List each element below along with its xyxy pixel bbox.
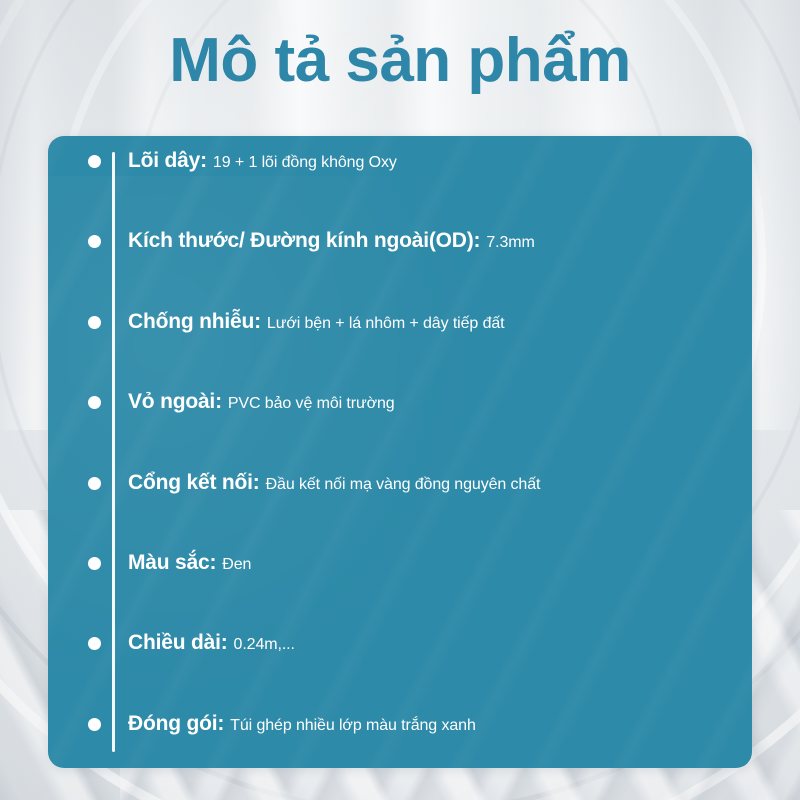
dot-icon xyxy=(88,477,101,490)
spec-label: Chống nhiễu: xyxy=(128,310,261,334)
spec-value: PVC bảo vệ môi trường xyxy=(228,395,395,413)
spec-value: 0.24m,... xyxy=(234,636,295,654)
spec-row-text: Đóng gói:Túi ghép nhiều lớp màu trắng xa… xyxy=(128,712,476,738)
spec-row-text: Lõi dây:19 + 1 lõi đồng không Oxy xyxy=(128,149,397,175)
spec-value: 7.3mm xyxy=(486,234,534,252)
spec-value: Đầu kết nối mạ vàng đồng nguyên chất xyxy=(266,476,541,494)
dot-icon xyxy=(88,557,101,570)
spec-label: Cổng kết nối: xyxy=(128,471,260,495)
spec-row-text: Cổng kết nối:Đầu kết nối mạ vàng đồng ng… xyxy=(128,471,540,497)
spec-row-text: Kích thước/ Đường kính ngoài(OD):7.3mm xyxy=(128,229,535,255)
spec-label: Kích thước/ Đường kính ngoài(OD): xyxy=(128,229,480,253)
dot-icon xyxy=(88,718,101,731)
specification-card: Lõi dây:19 + 1 lõi đồng không OxyKích th… xyxy=(48,136,752,768)
dot-icon xyxy=(88,316,101,329)
spec-row-text: Chiều dài:0.24m,... xyxy=(128,631,295,657)
spec-value: Túi ghép nhiều lớp màu trắng xanh xyxy=(230,717,476,735)
spec-value: Đen xyxy=(222,556,251,574)
spec-label: Màu sắc: xyxy=(128,551,216,575)
dot-icon xyxy=(88,155,101,168)
page-title: Mô tả sản phẩm xyxy=(0,28,800,93)
spec-value: Lưới bện + lá nhôm + dây tiếp đất xyxy=(267,315,505,333)
spec-label: Chiều dài: xyxy=(128,631,228,655)
specification-list: Lõi dây:19 + 1 lõi đồng không OxyKích th… xyxy=(48,136,752,768)
dot-icon xyxy=(88,235,101,248)
spec-row-text: Chống nhiễu:Lưới bện + lá nhôm + dây tiế… xyxy=(128,310,505,336)
spec-value: 19 + 1 lõi đồng không Oxy xyxy=(213,154,397,172)
dot-icon xyxy=(88,637,101,650)
spec-label: Đóng gói: xyxy=(128,712,224,736)
dot-icon xyxy=(88,396,101,409)
spec-row-text: Màu sắc:Đen xyxy=(128,551,251,577)
spec-label: Lõi dây: xyxy=(128,149,207,173)
product-description-banner: Mô tả sản phẩm Lõi dây:19 + 1 lõi đồng k… xyxy=(0,0,800,800)
spec-row-text: Vỏ ngoài:PVC bảo vệ môi trường xyxy=(128,390,395,416)
spec-label: Vỏ ngoài: xyxy=(128,390,222,414)
